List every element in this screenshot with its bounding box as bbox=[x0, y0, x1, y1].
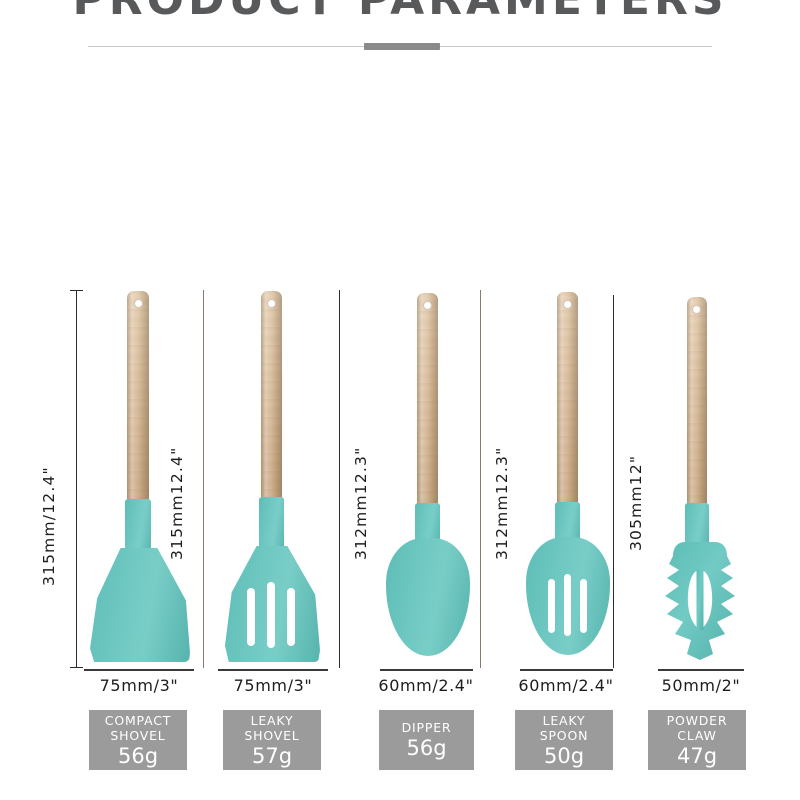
dim-line-vertical-5 bbox=[613, 295, 614, 668]
product-chip-powder-claw: POWDER CLAW 47g bbox=[648, 710, 746, 770]
product-chip-leaky-shovel: LEAKY SHOVEL 57g bbox=[223, 710, 321, 770]
dim-line-vertical-3 bbox=[339, 290, 340, 668]
product-weight: 50g bbox=[544, 744, 584, 768]
hanging-hole bbox=[423, 301, 432, 310]
bowl-slot bbox=[548, 579, 555, 633]
product-weight: 57g bbox=[252, 744, 292, 768]
width-label-5: 50mm/2" bbox=[641, 676, 761, 695]
silicone-blade bbox=[88, 548, 190, 662]
dim-tick-bottom-1 bbox=[70, 667, 83, 668]
hanging-hole bbox=[267, 299, 276, 308]
hanging-hole bbox=[134, 299, 143, 308]
wood-handle bbox=[687, 297, 707, 505]
dim-line-vertical-1 bbox=[76, 290, 77, 668]
header-divider-accent bbox=[364, 43, 440, 50]
product-weight: 56g bbox=[406, 736, 446, 760]
wood-handle bbox=[261, 291, 282, 499]
hanging-hole bbox=[692, 305, 701, 314]
product-chip-dipper: DIPPER 56g bbox=[379, 710, 474, 770]
pasta-server-head bbox=[655, 540, 745, 662]
width-label-1: 75mm/3" bbox=[79, 676, 199, 695]
product-weight: 47g bbox=[677, 744, 717, 768]
product-parameters-page: PRODUCT PARAMETERS 315mm/12.4" 315mm12.4… bbox=[0, 0, 800, 800]
product-name: POWDER CLAW bbox=[650, 713, 744, 743]
bowl-slot bbox=[580, 579, 587, 633]
length-label-5: 305mm12" bbox=[627, 455, 645, 551]
dim-line-horizontal-2 bbox=[218, 669, 328, 671]
product-chip-leaky-spoon: LEAKY SPOON 50g bbox=[515, 710, 613, 770]
wood-handle bbox=[557, 292, 578, 504]
page-title: PRODUCT PARAMETERS bbox=[0, 0, 800, 25]
width-label-2: 75mm/3" bbox=[213, 676, 333, 695]
hanging-hole bbox=[563, 300, 572, 309]
dim-line-horizontal-1 bbox=[84, 669, 194, 671]
product-chip-compact-shovel: COMPACT SHOVEL 56g bbox=[89, 710, 187, 770]
blade-slot bbox=[267, 582, 275, 648]
blade-slot bbox=[287, 588, 295, 646]
dim-line-vertical-2 bbox=[203, 290, 204, 668]
wood-handle bbox=[127, 291, 149, 501]
product-name: LEAKY SPOON bbox=[517, 713, 611, 743]
length-label-2: 315mm12.4" bbox=[168, 447, 186, 560]
dim-line-horizontal-3 bbox=[380, 669, 473, 671]
dim-line-vertical-4 bbox=[480, 290, 481, 668]
blade-slot bbox=[247, 588, 255, 646]
product-name: LEAKY SHOVEL bbox=[225, 713, 319, 743]
wood-handle bbox=[417, 293, 438, 505]
length-label-3: 312mm12.3" bbox=[352, 447, 370, 560]
length-label-4: 312mm12.3" bbox=[493, 447, 511, 560]
width-label-3: 60mm/2.4" bbox=[366, 676, 486, 695]
bowl-slot bbox=[564, 574, 571, 636]
spoon-bowl bbox=[386, 538, 470, 656]
product-weight: 56g bbox=[118, 744, 158, 768]
product-name: DIPPER bbox=[402, 720, 452, 735]
length-label-1: 315mm/12.4" bbox=[40, 466, 58, 586]
dim-line-horizontal-5 bbox=[658, 669, 744, 671]
dim-line-horizontal-4 bbox=[520, 669, 613, 671]
width-label-4: 60mm/2.4" bbox=[506, 676, 626, 695]
product-name: COMPACT SHOVEL bbox=[105, 713, 171, 743]
